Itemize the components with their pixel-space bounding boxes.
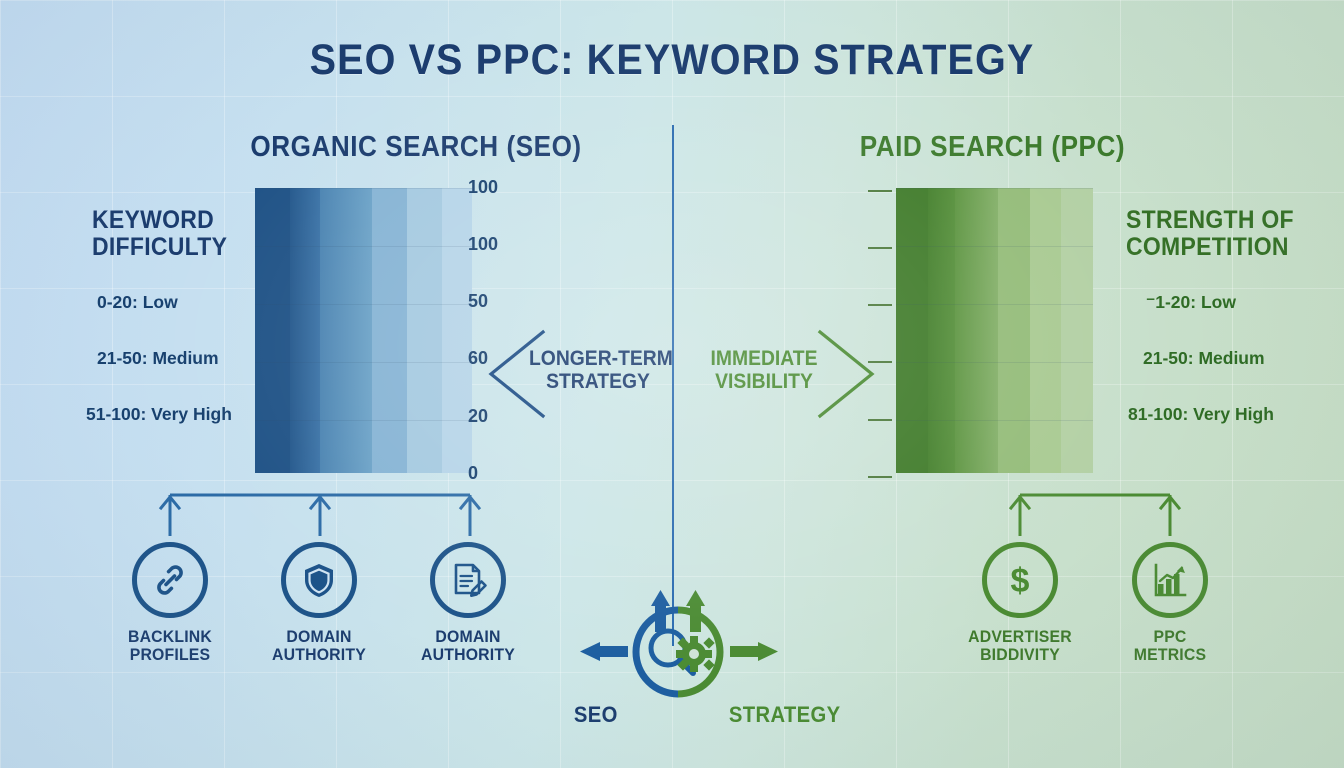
seo-range-0: 0-20: Low — [97, 292, 178, 313]
ppc-tickmark-0 — [868, 190, 892, 192]
seo-metric-label-line1: KEYWORD — [92, 207, 227, 234]
ppc-tickmark-1 — [868, 247, 892, 249]
seo-tick-0: 100 — [468, 177, 498, 198]
seo-icon-caption-domain-authority-2: DOMAIN AUTHORITY — [398, 628, 538, 665]
ppc-arrow-line1: IMMEDIATE — [700, 348, 829, 371]
svg-text:$: $ — [1011, 562, 1030, 600]
ppc-metric-label-line2: COMPETITION — [1126, 234, 1294, 261]
document-edit-icon — [447, 559, 489, 601]
caption-line1: BACKLINK — [100, 628, 240, 646]
seo-strategy-arrow: LONGER-TERM STRATEGY — [483, 326, 663, 424]
seo-icon-item-domain-authority-1[interactable]: DOMAIN AUTHORITY — [244, 542, 394, 665]
shield-icon-circle — [281, 542, 357, 618]
dollar-icon-circle: $ — [982, 542, 1058, 618]
document-edit-icon-circle — [430, 542, 506, 618]
arrow-right-green — [730, 642, 778, 661]
seo-icon-caption-backlink-profiles: BACKLINK PROFILES — [100, 628, 240, 665]
shield-icon — [300, 560, 338, 600]
ppc-icon-item-advertiser-biddivity[interactable]: $ ADVERTISER BIDDIVITY — [945, 542, 1095, 665]
seo-range-2: 51-100: Very High — [86, 404, 232, 425]
seo-tick-1: 100 — [468, 234, 498, 255]
bar-chart-growth-icon-circle — [1132, 542, 1208, 618]
seo-tick-2: 50 — [468, 291, 488, 312]
seo-icon-caption-domain-authority-1: DOMAIN AUTHORITY — [249, 628, 389, 665]
seo-arrow-line2: STRATEGY — [529, 371, 667, 394]
ppc-competition-bar — [896, 188, 1093, 473]
seo-bracket — [150, 492, 490, 542]
caption-line2: PROFILES — [100, 646, 240, 664]
panel-divider — [672, 125, 674, 646]
caption-line1: PPC — [1100, 628, 1240, 646]
center-hub-group[interactable] — [518, 588, 838, 718]
caption-line2: METRICS — [1100, 646, 1240, 664]
caption-line2: BIDDIVITY — [950, 646, 1090, 664]
ppc-range-1: 21-50: Medium — [1143, 348, 1265, 369]
ppc-metric-label-line1: STRENGTH OF — [1126, 207, 1294, 234]
seo-tick-5: 0 — [468, 463, 478, 484]
ppc-range-2: 81-100: Very High — [1128, 404, 1274, 425]
caption-line2: AUTHORITY — [249, 646, 389, 664]
caption-line1: DOMAIN — [249, 628, 389, 646]
caption-line1: DOMAIN — [398, 628, 538, 646]
seo-difficulty-bar — [255, 188, 472, 473]
ppc-range-0: ⁻1-20: Low — [1146, 292, 1236, 313]
ppc-tickmark-5 — [868, 476, 892, 478]
ppc-visibility-arrow: IMMEDIATE VISIBILITY — [700, 326, 880, 424]
dollar-icon: $ — [1003, 559, 1037, 601]
magnifier-gear-icon — [518, 588, 838, 718]
ppc-icon-item-ppc-metrics[interactable]: PPC METRICS — [1095, 542, 1245, 665]
seo-range-1: 21-50: Medium — [97, 348, 219, 369]
caption-line2: AUTHORITY — [398, 646, 538, 664]
seo-icon-item-backlink-profiles[interactable]: BACKLINK PROFILES — [95, 542, 245, 665]
infographic-canvas: SEO VS PPC: KEYWORD STRATEGY ORGANIC SEA… — [0, 0, 1344, 768]
arrow-left-blue — [580, 642, 628, 661]
ppc-arrow-line2: VISIBILITY — [700, 371, 829, 394]
ppc-bracket — [1000, 492, 1190, 542]
ppc-icon-caption-ppc-metrics: PPC METRICS — [1100, 628, 1240, 665]
link-icon-circle — [132, 542, 208, 618]
hub-label-strategy: STRATEGY — [729, 702, 841, 728]
ppc-metric-label: STRENGTH OF COMPETITION — [1126, 207, 1294, 261]
ppc-tickmark-2 — [868, 304, 892, 306]
ppc-panel-heading: PAID SEARCH (PPC) — [860, 131, 1125, 164]
ppc-icon-caption-advertiser-biddivity: ADVERTISER BIDDIVITY — [950, 628, 1090, 665]
page-title: SEO VS PPC: KEYWORD STRATEGY — [54, 36, 1290, 85]
seo-arrow-line1: LONGER-TERM — [529, 348, 667, 371]
bar-chart-growth-icon — [1149, 560, 1191, 600]
caption-line1: ADVERTISER — [950, 628, 1090, 646]
seo-metric-label-line2: DIFFICULTY — [92, 234, 227, 261]
seo-metric-label: KEYWORD DIFFICULTY — [92, 207, 227, 261]
link-icon — [150, 560, 190, 600]
hub-label-seo: SEO — [574, 702, 618, 728]
seo-panel-heading: ORGANIC SEARCH (SEO) — [250, 131, 581, 164]
